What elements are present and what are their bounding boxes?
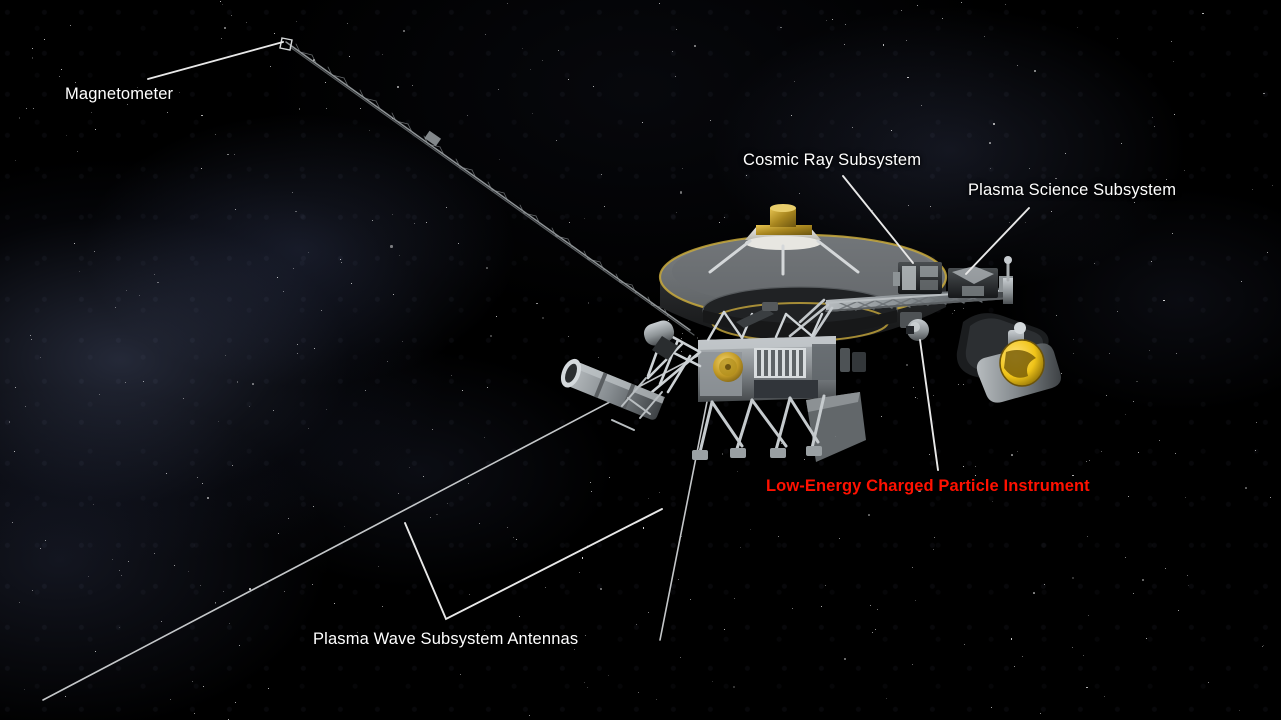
label-plasma-wave-subsystem-antennas[interactable]: Plasma Wave Subsystem Antennas xyxy=(313,631,578,648)
label-low-energy-charged-particle-instrument[interactable]: Low-Energy Charged Particle Instrument xyxy=(766,478,1090,495)
golden-record xyxy=(713,352,743,382)
label-cosmic-ray-subsystem[interactable]: Cosmic Ray Subsystem xyxy=(743,152,921,169)
magnetometer-boom xyxy=(280,38,694,335)
cosmic-ray-detector xyxy=(893,262,942,294)
radiator-louvers xyxy=(754,348,806,378)
voyager-spacecraft-illustration xyxy=(0,0,1281,720)
label-magnetometer[interactable]: Magnetometer xyxy=(65,86,173,103)
rtg-power-assembly xyxy=(957,313,1061,403)
voyager-diagram-canvas: Magnetometer Cosmic Ray Subsystem Plasma… xyxy=(0,0,1281,720)
label-plasma-science-subsystem[interactable]: Plasma Science Subsystem xyxy=(968,182,1176,199)
left-scan-platform-boom xyxy=(557,318,700,430)
